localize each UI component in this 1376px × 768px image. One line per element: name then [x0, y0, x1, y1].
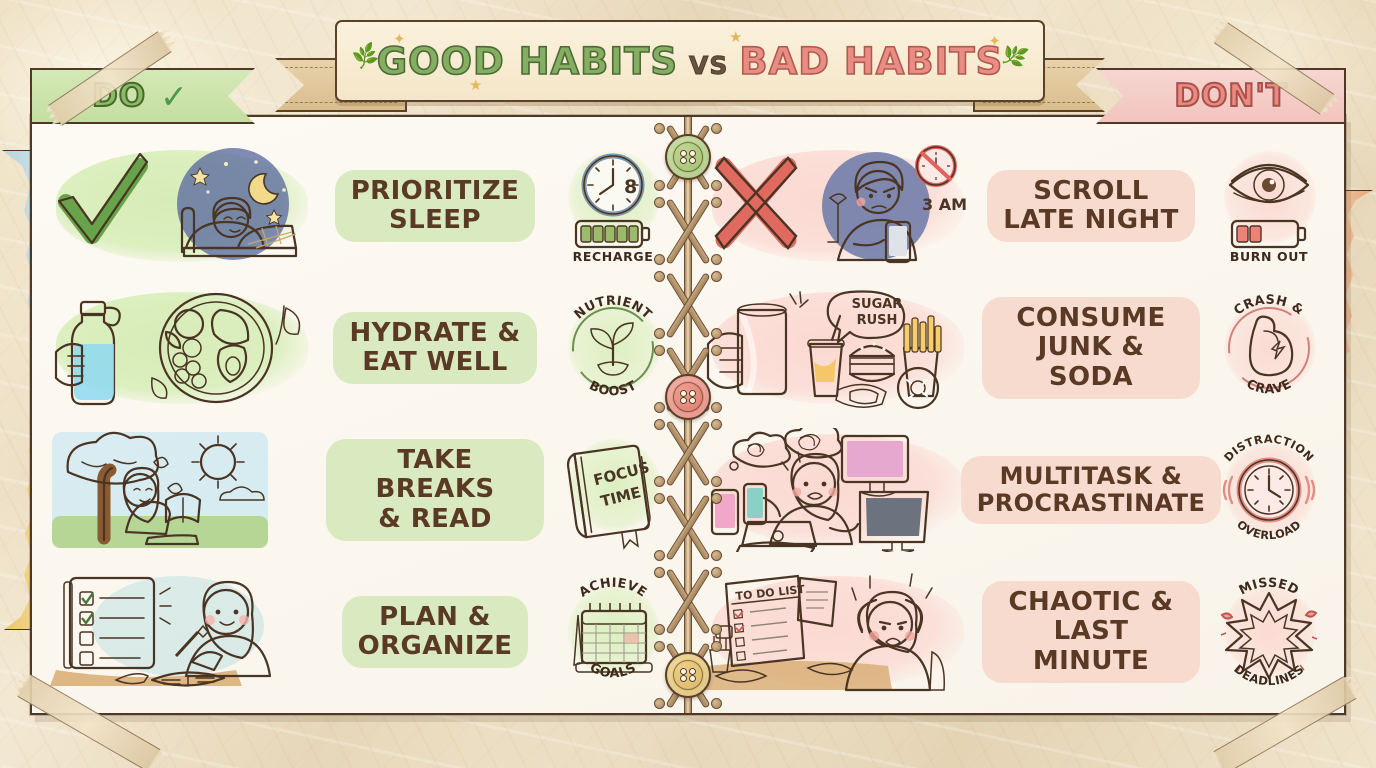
habit-label-prioritize-sleep: PRIORITIZE SLEEP — [322, 170, 548, 242]
dont-banner-label: DON'T — [1174, 78, 1288, 114]
habit-row-chaotic-last-minute: TO DO LIST — [704, 561, 1328, 703]
habit-row-take-breaks-read: TAKE BREAKS & READ FOCUS — [48, 419, 672, 561]
habit-label-take-breaks-read: TAKE BREAKS & READ — [322, 439, 548, 540]
habit-label-line1: PRIORITIZE — [351, 176, 520, 206]
illustration-girl-writing-checklist — [48, 570, 316, 694]
svg-text:SUGAR: SUGAR — [852, 297, 903, 312]
badge-clock-value: 8 — [624, 176, 637, 198]
habit-row-multitask-procrastinate: MULTITASK & PROCRASTINATE — [704, 419, 1328, 561]
star-icon: ★ — [729, 28, 742, 46]
illustration-boy-scrolling-at-night: 3 AM — [704, 144, 972, 268]
cross-stitch-icon — [656, 273, 720, 337]
title-ribbon: 🌿 🌿 ✦ ★ ★ ✦ GOOD HABITS VS BAD HABITS — [275, 12, 1105, 117]
habit-label-line2: EAT WELL — [362, 347, 507, 377]
habit-label-line2: SLEEP — [389, 205, 481, 235]
habit-label-line2: LAST MINUTE — [1033, 616, 1149, 675]
habit-label-line1: PLAN & — [379, 602, 491, 632]
annotation-3am: 3 AM — [922, 195, 967, 214]
cross-stitch-icon — [656, 199, 720, 263]
divider-button-red — [665, 374, 711, 420]
divider-button-yellow — [665, 652, 711, 698]
check-mark-icon: ✓ — [160, 80, 188, 113]
star-icon: ✦ — [988, 32, 1001, 50]
badge-burn-out: BURN OUT — [1210, 145, 1328, 267]
habit-label-line2: ORGANIZE — [358, 631, 513, 661]
habit-label-line1: CONSUME — [1016, 303, 1165, 333]
svg-text:RUSH: RUSH — [857, 313, 898, 328]
cross-stitch-icon — [656, 569, 720, 633]
habit-row-hydrate-eat-well: HYDRATE & EAT WELL — [48, 277, 672, 419]
divider-button-green — [665, 134, 711, 180]
title-good-habits: GOOD HABITS — [377, 40, 678, 83]
star-icon: ★ — [469, 76, 482, 94]
habit-row-prioritize-sleep: PRIORITIZE SLEEP 8 — [48, 135, 672, 277]
illustration-water-and-healthy-plate — [48, 286, 316, 410]
habit-label-line1: TAKE BREAKS — [376, 445, 495, 504]
habit-label-line1: HYDRATE & — [349, 318, 520, 348]
bad-habits-column: 3 AM SCROLL LATE NIGHT — [688, 117, 1344, 713]
habit-row-consume-junk-soda: SUGAR RUSH — [704, 277, 1328, 419]
habit-label-line1: MULTITASK & — [1000, 462, 1183, 490]
habit-label-line2: PROCRASTINATE — [977, 489, 1206, 517]
habit-label-multitask-procrastinate: MULTITASK & PROCRASTINATE — [978, 456, 1204, 524]
cross-stitch-icon — [656, 421, 720, 485]
habit-label-line2: LATE NIGHT — [1003, 205, 1179, 235]
illustration-soda-and-junk-food: SUGAR RUSH — [704, 286, 972, 410]
habit-label-scroll-late-night: SCROLL LATE NIGHT — [978, 170, 1204, 242]
habit-row-plan-organize: PLAN & ORGANIZE — [48, 561, 672, 703]
good-habits-column: PRIORITIZE SLEEP 8 — [32, 117, 688, 713]
badge-caption-bottom: TIME — [599, 483, 643, 510]
badge-caption: RECHARGE — [573, 249, 654, 264]
illustration-stressed-multitasking-girl — [704, 428, 972, 552]
habit-label-plan-organize: PLAN & ORGANIZE — [322, 596, 548, 668]
title-vs: VS — [689, 51, 728, 80]
habit-row-scroll-late-night: 3 AM SCROLL LATE NIGHT — [704, 135, 1328, 277]
habit-label-chaotic-last-minute: CHAOTIC & LAST MINUTE — [978, 581, 1204, 682]
illustration-sleeping-girl — [48, 144, 316, 268]
star-icon: ✦ — [393, 30, 406, 48]
center-divider — [643, 117, 733, 713]
badge-crash-crave: CRASH & CRAVE — [1210, 287, 1328, 409]
main-card: PRIORITIZE SLEEP 8 — [30, 115, 1346, 715]
title-bad-habits: BAD HABITS — [739, 40, 1003, 83]
habit-label-line2: & READ — [378, 504, 492, 534]
illustration-girl-reading-under-tree — [48, 428, 316, 552]
habit-label-line1: CHAOTIC & — [1009, 587, 1174, 617]
habit-label-line2: JUNK & SODA — [1038, 332, 1145, 391]
badge-caption: BURN OUT — [1230, 249, 1308, 264]
leaf-sprig-icon: 🌿 — [999, 40, 1031, 72]
badge-distraction-overload: DISTRACTION OVERLOAD — [1210, 429, 1328, 551]
illustration-panicked-girl-messy-desk: TO DO LIST — [704, 570, 972, 694]
habit-label-hydrate-eat-well: HYDRATE & EAT WELL — [322, 312, 548, 384]
cross-stitch-icon — [656, 495, 720, 559]
badge-missed-deadlines: MISSED DEADLINES — [1210, 571, 1328, 693]
habit-label-line1: SCROLL — [1033, 176, 1148, 206]
habit-label-consume-junk-soda: CONSUME JUNK & SODA — [978, 297, 1204, 398]
